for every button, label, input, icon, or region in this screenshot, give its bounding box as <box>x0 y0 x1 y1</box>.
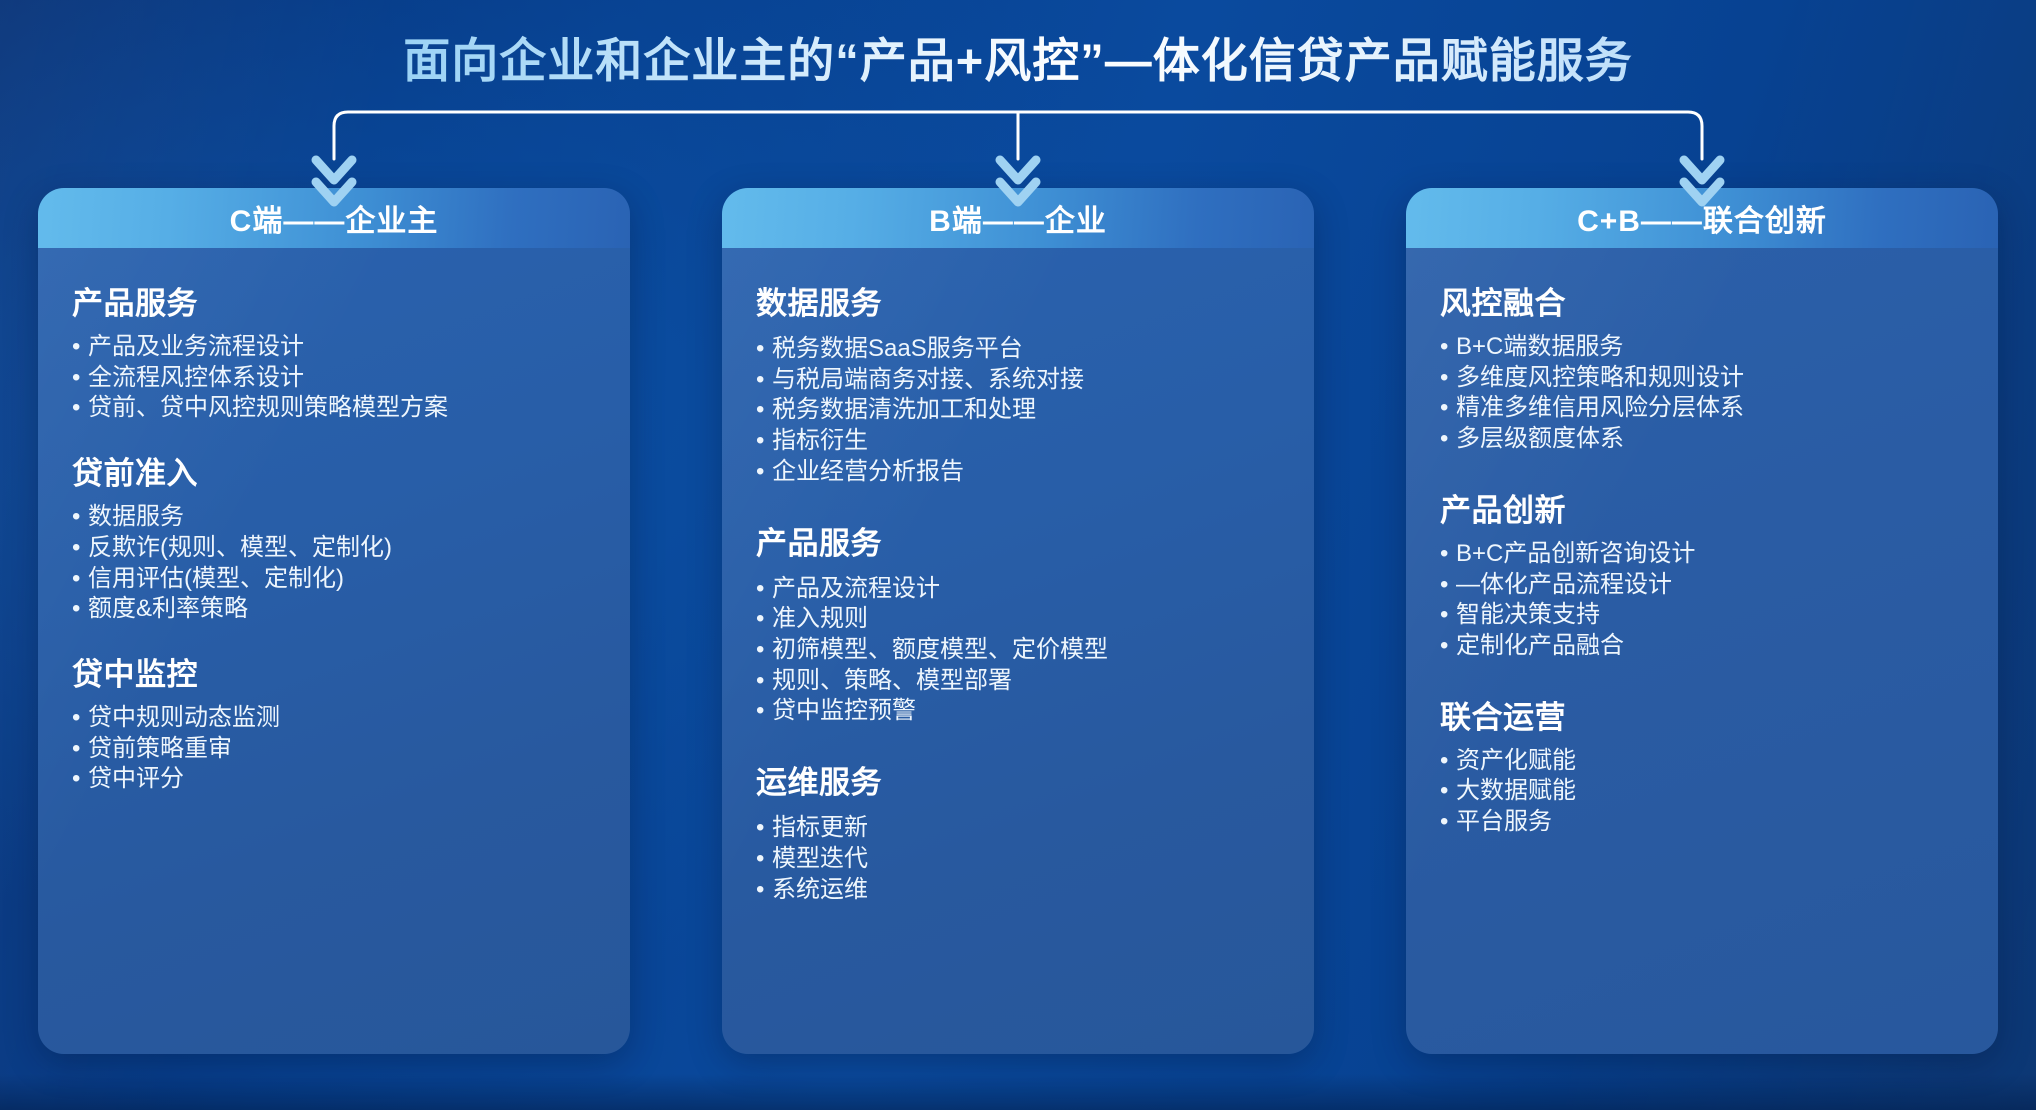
card-c-end[interactable]: C端——企业主 产品服务 产品及业务流程设计 全流程风控体系设计 贷前、贷中风控… <box>38 188 630 1054</box>
list-item: 产品及流程设计 <box>756 574 1280 605</box>
list-item: 额度&利率策略 <box>72 594 596 625</box>
double-chevron-down-icon <box>1000 160 1036 202</box>
section-title: 运维服务 <box>756 757 1280 802</box>
list-item: 平台服务 <box>1440 807 1964 838</box>
list-item: 模型迭代 <box>756 844 1280 875</box>
list-item: 定制化产品融合 <box>1440 631 1964 662</box>
bullet-list: B+C端数据服务 多维度风控策略和规则设计 精准多维信用风险分层体系 多层级额度… <box>1440 332 1964 455</box>
list-item: 准入规则 <box>756 604 1280 635</box>
section-title: 数据服务 <box>756 278 1280 323</box>
list-item: 信用评估(模型、定制化) <box>72 564 596 595</box>
list-item: 贷中规则动态监测 <box>72 703 596 734</box>
list-item: 税务数据清洗加工和处理 <box>756 395 1280 426</box>
list-item: B+C产品创新咨询设计 <box>1440 539 1964 570</box>
section-risk-control-fusion: 风控融合 B+C端数据服务 多维度风控策略和规则设计 精准多维信用风险分层体系 … <box>1440 278 1964 455</box>
title-container: 面向企业和企业主的“产品+风控”—体化信贷产品赋能服务 <box>0 22 2036 91</box>
section-title: 联合运营 <box>1440 692 1964 737</box>
list-item: 系统运维 <box>756 875 1280 906</box>
list-item: 多维度风控策略和规则设计 <box>1440 363 1964 394</box>
bullet-list: B+C产品创新咨询设计 —体化产品流程设计 智能决策支持 定制化产品融合 <box>1440 539 1964 662</box>
list-item: 指标更新 <box>756 813 1280 844</box>
bullet-list: 产品及业务流程设计 全流程风控体系设计 贷前、贷中风控规则策略模型方案 <box>72 332 596 424</box>
bullet-list: 贷中规则动态监测 贷前策略重审 贷中评分 <box>72 703 596 795</box>
section-title: 产品服务 <box>756 518 1280 563</box>
list-item: 贷中监控预警 <box>756 696 1280 727</box>
section-operations-service: 运维服务 指标更新 模型迭代 系统运维 <box>756 757 1280 905</box>
section-joint-operations: 联合运营 资产化赋能 大数据赋能 平台服务 <box>1440 692 1964 838</box>
list-item: —体化产品流程设计 <box>1440 570 1964 601</box>
double-chevron-down-icon <box>1684 160 1720 202</box>
list-item: B+C端数据服务 <box>1440 332 1964 363</box>
section-title: 产品创新 <box>1440 485 1964 530</box>
arrow-group <box>316 160 1720 202</box>
bullet-list: 数据服务 反欺诈(规则、模型、定制化) 信用评估(模型、定制化) 额度&利率策略 <box>72 502 596 625</box>
list-item: 企业经营分析报告 <box>756 457 1280 488</box>
section-title: 产品服务 <box>72 278 596 323</box>
list-item: 税务数据SaaS服务平台 <box>756 334 1280 365</box>
list-item: 智能决策支持 <box>1440 600 1964 631</box>
cards-row: C端——企业主 产品服务 产品及业务流程设计 全流程风控体系设计 贷前、贷中风控… <box>0 188 2036 1054</box>
slide-canvas: 面向企业和企业主的“产品+风控”—体化信贷产品赋能服务 <box>0 0 2036 1110</box>
card-body-b-end: 数据服务 税务数据SaaS服务平台 与税局端商务对接、系统对接 税务数据清洗加工… <box>722 248 1314 1054</box>
connector-bracket <box>0 104 2036 216</box>
bullet-list: 资产化赋能 大数据赋能 平台服务 <box>1440 746 1964 838</box>
list-item: 与税局端商务对接、系统对接 <box>756 365 1280 396</box>
card-c-plus-b[interactable]: C+B——联合创新 风控融合 B+C端数据服务 多维度风控策略和规则设计 精准多… <box>1406 188 1998 1054</box>
section-title: 贷中监控 <box>72 649 596 694</box>
list-item: 指标衍生 <box>756 426 1280 457</box>
section-product-service: 产品服务 产品及业务流程设计 全流程风控体系设计 贷前、贷中风控规则策略模型方案 <box>72 278 596 424</box>
section-title: 风控融合 <box>1440 278 1964 323</box>
list-item: 反欺诈(规则、模型、定制化) <box>72 533 596 564</box>
card-body-c-end: 产品服务 产品及业务流程设计 全流程风控体系设计 贷前、贷中风控规则策略模型方案… <box>38 248 630 1054</box>
list-item: 规则、策略、模型部署 <box>756 666 1280 697</box>
page-title: 面向企业和企业主的“产品+风控”—体化信贷产品赋能服务 <box>403 22 1632 91</box>
list-item: 产品及业务流程设计 <box>72 332 596 363</box>
list-item: 贷前、贷中风控规则策略模型方案 <box>72 393 596 424</box>
list-item: 大数据赋能 <box>1440 776 1964 807</box>
list-item: 贷中评分 <box>72 764 596 795</box>
section-pre-loan-access: 贷前准入 数据服务 反欺诈(规则、模型、定制化) 信用评估(模型、定制化) 额度… <box>72 448 596 625</box>
card-b-end[interactable]: B端——企业 数据服务 税务数据SaaS服务平台 与税局端商务对接、系统对接 税… <box>722 188 1314 1054</box>
list-item: 数据服务 <box>72 502 596 533</box>
list-item: 精准多维信用风险分层体系 <box>1440 393 1964 424</box>
section-product-service: 产品服务 产品及流程设计 准入规则 初筛模型、额度模型、定价模型 规则、策略、模… <box>756 518 1280 728</box>
list-item: 全流程风控体系设计 <box>72 363 596 394</box>
card-body-c-plus-b: 风控融合 B+C端数据服务 多维度风控策略和规则设计 精准多维信用风险分层体系 … <box>1406 248 1998 1054</box>
list-item: 多层级额度体系 <box>1440 424 1964 455</box>
double-chevron-down-icon <box>316 160 352 202</box>
list-item: 资产化赋能 <box>1440 746 1964 777</box>
section-title: 贷前准入 <box>72 448 596 493</box>
bullet-list: 税务数据SaaS服务平台 与税局端商务对接、系统对接 税务数据清洗加工和处理 指… <box>756 334 1280 488</box>
bullet-list: 产品及流程设计 准入规则 初筛模型、额度模型、定价模型 规则、策略、模型部署 贷… <box>756 574 1280 728</box>
section-in-loan-monitoring: 贷中监控 贷中规则动态监测 贷前策略重审 贷中评分 <box>72 649 596 795</box>
bullet-list: 指标更新 模型迭代 系统运维 <box>756 813 1280 905</box>
list-item: 初筛模型、额度模型、定价模型 <box>756 635 1280 666</box>
section-product-innovation: 产品创新 B+C产品创新咨询设计 —体化产品流程设计 智能决策支持 定制化产品融… <box>1440 485 1964 662</box>
section-data-service: 数据服务 税务数据SaaS服务平台 与税局端商务对接、系统对接 税务数据清洗加工… <box>756 278 1280 488</box>
list-item: 贷前策略重审 <box>72 734 596 765</box>
